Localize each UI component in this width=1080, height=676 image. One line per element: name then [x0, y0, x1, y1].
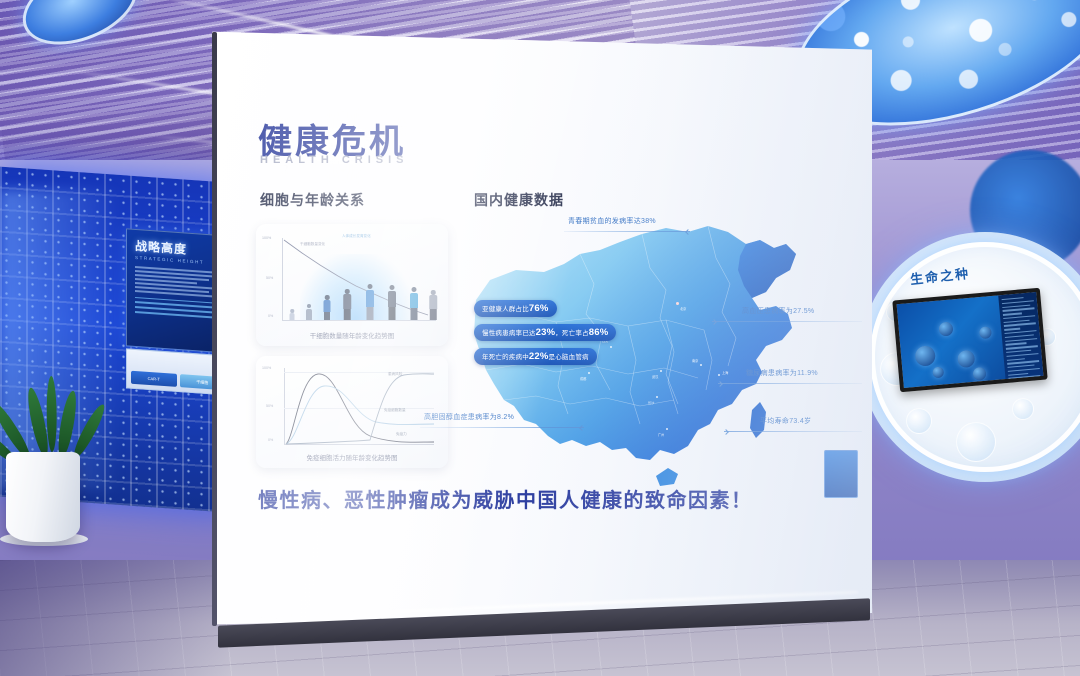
pill-chronic: 慢性病患病率已达23%，死亡率占86% — [474, 324, 616, 341]
plant-pot — [6, 452, 80, 542]
callout-lifespan: 平均寿命73.4岁 — [724, 416, 862, 432]
pill-cardio: 年死亡的疾病中22%是心脑血管病 — [474, 348, 597, 365]
exhibition-scene: 战略高度 STRATEGIC HEIGHT CAR-T 干细胞 生命之种 — [0, 0, 1080, 676]
callout-hypertension: 高血压患病率为27.5% — [712, 306, 862, 322]
board-left-edge — [212, 32, 217, 626]
growth-area-label: 人体成长发育变化 — [342, 234, 371, 239]
left-chip-cart[interactable]: CAR-T — [131, 371, 177, 387]
board-top-light — [220, 38, 860, 40]
floor-shadow — [0, 560, 230, 676]
city-dot-chengdu — [588, 372, 590, 374]
screen-text-sidebar — [998, 292, 1043, 379]
city-label-guangzhou: 广州 — [658, 432, 664, 437]
city-dot-beijing — [676, 302, 679, 305]
city-label-changsha: 长沙 — [648, 400, 654, 405]
city-label-wuhan: 武汉 — [652, 374, 658, 379]
right-exhibit-title: 生命之种 — [909, 263, 971, 288]
left-panel-bullets — [135, 296, 221, 319]
legend-cellcount: 免疫细胞数量 — [384, 408, 406, 413]
city-dot-changsha — [656, 396, 658, 398]
callout-diabetes: 糖尿病患病率为11.9% — [718, 368, 862, 384]
city-label-chengdu: 成都 — [580, 376, 586, 381]
chart-caption-immune: 免疫细胞活力随年龄变化趋势图 — [256, 452, 448, 462]
city-dot-xian — [610, 346, 612, 348]
board-content: 健康危机 HEALTH CRISIS 细胞与年龄关系 国内健康数据 100% 5… — [212, 28, 872, 628]
callout-cholesterol: 高胆固醇血症患病率为8.2% — [420, 412, 584, 428]
stemcell-series-label: 干细胞数量变化 — [300, 242, 325, 247]
pill-subhealth: 亚健康人群占比76% — [474, 300, 557, 317]
immune-curves — [284, 366, 436, 446]
board-headline: 慢性病、恶性肿瘤成为威胁中国人健康的致命因素！ — [258, 484, 838, 513]
legend-risk: 患病风险 — [388, 372, 402, 377]
page-subtitle: HEALTH CRISIS — [260, 154, 409, 166]
board-surface: 健康危机 HEALTH CRISIS 细胞与年龄关系 国内健康数据 100% 5… — [212, 28, 872, 628]
section-title-left: 细胞与年龄关系 — [260, 190, 365, 210]
left-panel-body-text — [135, 266, 221, 298]
city-dot-guangzhou — [666, 428, 668, 430]
section-title-right: 国内健康数据 — [474, 190, 564, 210]
right-wall-screen[interactable] — [892, 288, 1047, 393]
callout-anemia: 青春期贫血的发病率达38% — [564, 216, 690, 232]
chart-caption-stemcell: 干细胞数量随年龄变化趋势图 — [256, 330, 448, 340]
city-dot-wuhan — [660, 370, 662, 372]
legend-immunity: 免疫力 — [396, 432, 407, 437]
city-label-nanjing: 南京 — [692, 358, 698, 363]
city-dot-nanjing — [700, 364, 702, 366]
city-label-beijing: 北京 — [680, 306, 686, 311]
exhibition-board[interactable]: 健康危机 HEALTH CRISIS 细胞与年龄关系 国内健康数据 100% 5… — [212, 28, 872, 628]
chart-card-stemcell[interactable]: 100% 50% 0% 干细胞数量变化 人体成长发育变化 — [256, 224, 448, 346]
